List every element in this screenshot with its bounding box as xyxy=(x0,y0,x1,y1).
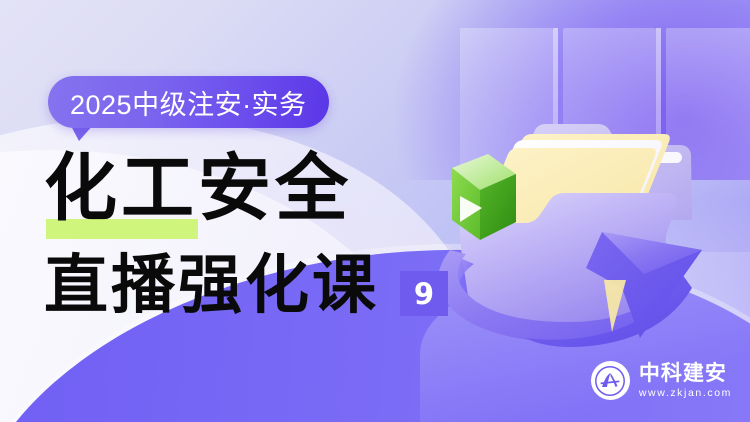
episode-number-badge: 9 xyxy=(400,271,448,316)
brand-logo[interactable]: 中科建安 www.zkjan.com xyxy=(591,361,732,400)
folder-illustration xyxy=(430,92,750,352)
headline-line-1: 化工安全 xyxy=(44,152,352,225)
headline-line-2: 直播强化课 xyxy=(44,254,379,318)
brand-logo-text: 中科建安 www.zkjan.com xyxy=(639,362,732,398)
episode-number-label: 9 xyxy=(414,277,434,311)
brand-name: 中科建安 xyxy=(639,362,727,384)
category-badge-label: 2025中级注安·实务 xyxy=(70,83,307,122)
zhongke-jianan-circle-logo-icon xyxy=(591,361,630,400)
brand-url: www.zkjan.com xyxy=(639,387,732,399)
course-banner: 2025中级注安·实务 化工安全 直播强化课 9 中科建安 www.zkjan.… xyxy=(0,0,750,422)
category-badge: 2025中级注安·实务 xyxy=(48,76,329,128)
